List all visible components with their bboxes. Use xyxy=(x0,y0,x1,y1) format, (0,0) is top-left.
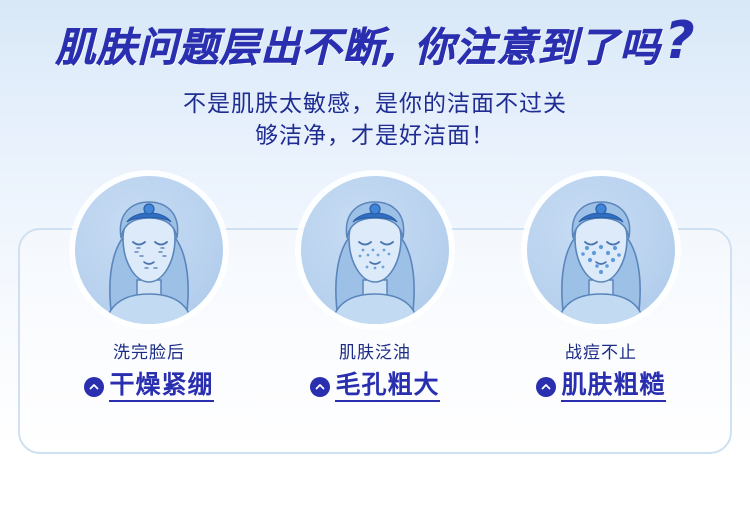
problem-item-emphasis-row: 毛孔粗大 xyxy=(290,371,460,402)
headline-text: 肌肤问题层出不断, 你注意到了吗 xyxy=(55,15,660,73)
subheadline: 不是肌肤太敏感，是你的洁面不过关 够洁净，才是好洁面！ xyxy=(0,88,750,152)
problem-item-emphasis: 肌肤粗糙 xyxy=(561,371,665,402)
subheadline-line-1: 不是肌肤太敏感，是你的洁面不过关 xyxy=(0,88,750,120)
headline-question-mark: ? xyxy=(664,11,694,71)
problem-item-emphasis-row: 干燥紧绷 xyxy=(64,371,234,402)
chevron-up-circle-icon xyxy=(310,377,330,397)
problem-item-rough: 战痘不止 肌肤粗糙 xyxy=(516,176,686,402)
problem-item-caption: 战痘不止 xyxy=(516,338,686,363)
subheadline-line-2: 够洁净，才是好洁面！ xyxy=(0,120,750,152)
problem-item-caption: 肌肤泛油 xyxy=(290,338,460,363)
woman-face-dry-skin-icon xyxy=(75,176,223,324)
problem-item-emphasis-row: 肌肤粗糙 xyxy=(516,371,686,402)
woman-face-oily-skin-icon xyxy=(301,176,449,324)
promo-banner: 肌肤问题层出不断, 你注意到了吗? 不是肌肤太敏感，是你的洁面不过关 够洁净，才… xyxy=(0,0,750,508)
problem-item-emphasis: 干燥紧绷 xyxy=(109,371,213,402)
problem-item-pores: 肌肤泛油 毛孔粗大 xyxy=(290,176,460,402)
headline: 肌肤问题层出不断, 你注意到了吗? xyxy=(0,14,750,74)
problem-item-caption: 洗完脸后 xyxy=(64,338,234,363)
problem-items-row: 洗完脸后 干燥紧绷 xyxy=(0,176,750,402)
chevron-up-circle-icon xyxy=(536,377,556,397)
problem-item-dry: 洗完脸后 干燥紧绷 xyxy=(64,176,234,402)
problem-item-emphasis: 毛孔粗大 xyxy=(335,371,439,402)
chevron-up-circle-icon xyxy=(84,377,104,397)
woman-face-acne-skin-icon xyxy=(527,176,675,324)
